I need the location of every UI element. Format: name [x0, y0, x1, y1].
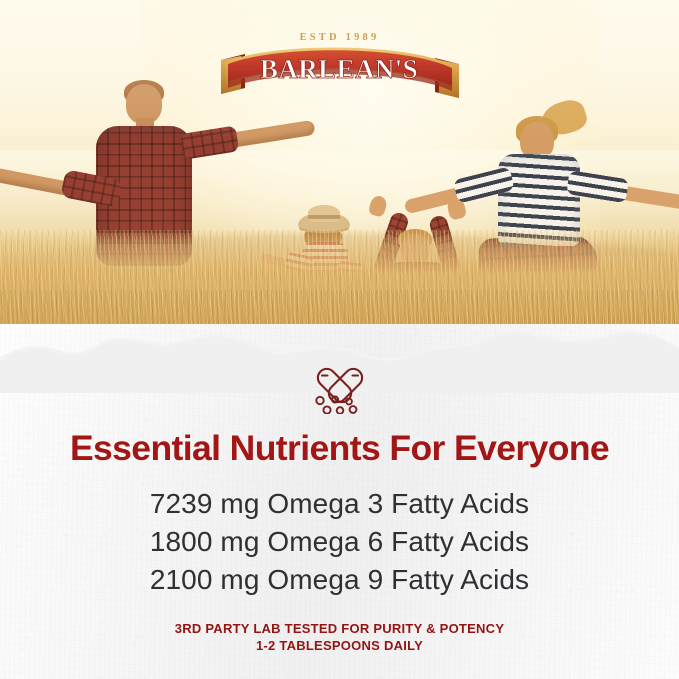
brand-logo: ESTD 1989	[0, 32, 679, 116]
barleans-ribbon-logo: BARLEAN'S	[215, 44, 465, 108]
girl-hat-band	[308, 215, 340, 219]
girl-straw-hat-crown	[308, 205, 340, 222]
crossed-capsules-with-droplets-icon	[311, 366, 369, 414]
dosage-instruction: 1-2 TABLESPOONS DAILY	[256, 638, 423, 653]
headline: Essential Nutrients For Everyone	[70, 428, 609, 469]
lab-tested-claim: 3RD PARTY LAB TESTED FOR PURITY & POTENC…	[175, 621, 505, 636]
brand-wordmark: BARLEAN'S	[259, 54, 417, 84]
established-text: ESTD 1989	[300, 32, 380, 43]
boy-left-hand	[368, 194, 389, 218]
nutrient-fact-omega3: 7239 mg Omega 3 Fatty Acids	[150, 485, 529, 522]
product-banner: ESTD 1989	[0, 0, 679, 679]
nutrient-fact-omega6: 1800 mg Omega 6 Fatty Acids	[150, 523, 529, 560]
info-panel: Essential Nutrients For Everyone 7239 mg…	[0, 354, 679, 679]
father-right-sleeve	[180, 125, 239, 159]
footer-claims: 3RD PARTY LAB TESTED FOR PURITY & POTENC…	[175, 621, 505, 653]
nutrient-fact-omega9: 2100 mg Omega 9 Fatty Acids	[150, 561, 529, 598]
nutrient-facts-list: 7239 mg Omega 3 Fatty Acids 1800 mg Omeg…	[150, 485, 529, 599]
